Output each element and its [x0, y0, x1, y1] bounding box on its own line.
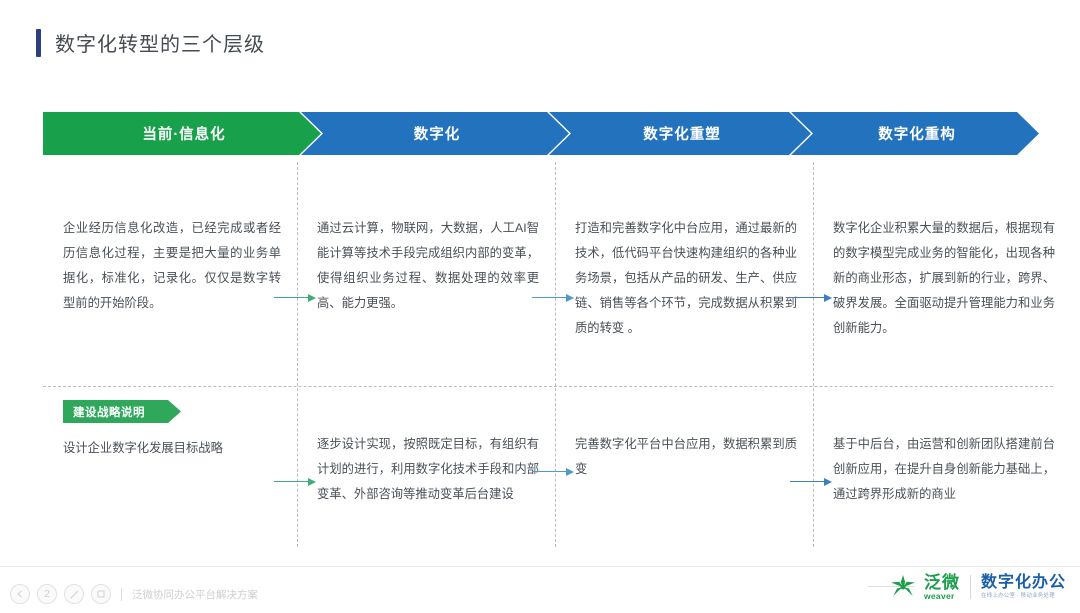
page-number-icon[interactable]: 2: [37, 584, 57, 604]
product-name-block: 数字化办公 在线上办公室 · 移动业务处理: [981, 575, 1066, 600]
back-arrow-icon[interactable]: [10, 584, 30, 604]
stage-strategy-2: 逐步设计实现，按照既定目标，有组织有计划的进行，利用数字化技术手段和内部变革、外…: [317, 432, 539, 507]
stage-label-3: 数字化重塑: [639, 123, 721, 144]
column-divider-3: [813, 162, 814, 547]
strategy-badge-label: 建设战略说明: [63, 404, 145, 420]
stage-strategy-3: 完善数字化平台中台应用，数据积累到质变: [575, 432, 797, 482]
stage-description-2: 通过云计算，物联网，大数据，人工AI智能计算等技术手段完成组织内部的变革，使得组…: [317, 216, 539, 316]
stage-label-2: 数字化: [410, 123, 461, 144]
stage-strategy-4: 基于中后台，由运营和创新团队搭建前台创新应用，在提升自身创新能力基础上，通过跨界…: [833, 432, 1055, 507]
stage-column-2: 通过云计算，物联网，大数据，人工AI智能计算等技术手段完成组织内部的变革，使得组…: [301, 162, 553, 547]
stage-strategy-1: 设计企业数字化发展目标战略: [63, 436, 281, 461]
brand-name-block: 泛微 weaver: [924, 574, 960, 601]
stage-content-grid: 企业经历信息化改造，已经完成或者经历信息化过程，主要是把大量的业务单据化，标准化…: [43, 162, 1053, 547]
page-title-text: 数字化转型的三个层级: [55, 28, 265, 57]
product-name-cn: 数字化办公: [981, 575, 1066, 591]
title-accent-bar: [36, 29, 41, 57]
stage-chevron-1[interactable]: 当前·信息化: [43, 112, 321, 155]
stage-column-3: 打造和完善数字化中台应用，通过最新的技术，低代码平台快速构建组织的各种业务场景，…: [559, 162, 811, 547]
footer-toolbar: 2 泛微协同办公平台解决方案: [10, 584, 258, 604]
product-name-sub: 在线上办公室 · 移动业务处理: [981, 594, 1066, 600]
stage-chevron-3[interactable]: 数字化重塑: [549, 112, 811, 155]
stage-description-4: 数字化企业积累大量的数据后，根据现有的数字模型完成业务的智能化，出现各种新的商业…: [833, 216, 1055, 341]
brand-name-cn: 泛微: [924, 574, 960, 591]
frame-icon[interactable]: [91, 584, 111, 604]
footer-caption: 泛微协同办公平台解决方案: [132, 587, 258, 602]
stage-chevron-4[interactable]: 数字化重构: [791, 112, 1039, 155]
strategy-badge: 建设战略说明: [63, 400, 181, 423]
footer-page-number: 2: [44, 589, 50, 600]
stage-chevron-band: 当前·信息化 数字化 数字化重塑 数字化重构: [43, 112, 1053, 155]
flow-arrow-icon-bottom-2: [532, 467, 576, 477]
stage-description-1: 企业经历信息化改造，已经完成或者经历信息化过程，主要是把大量的业务单据化，标准化…: [63, 216, 281, 316]
page-title: 数字化转型的三个层级: [36, 28, 265, 57]
footer-divider: [0, 566, 1080, 567]
stage-label-4: 数字化重构: [874, 123, 956, 144]
stage-description-3: 打造和完善数字化中台应用，通过最新的技术，低代码平台快速构建组织的各种业务场景，…: [575, 216, 797, 341]
column-divider-2: [555, 162, 556, 547]
flow-arrow-icon-bottom-1: [274, 477, 318, 487]
stage-chevron-2[interactable]: 数字化: [301, 112, 569, 155]
weaver-leaf-icon: [888, 572, 918, 602]
column-divider-1: [297, 162, 298, 547]
logo-divider: [970, 575, 971, 599]
brand-logo: 泛微 weaver 数字化办公 在线上办公室 · 移动业务处理: [888, 572, 1066, 602]
flow-arrow-icon-bottom-3: [790, 477, 834, 487]
stage-column-4: 数字化企业积累大量的数据后，根据现有的数字模型完成业务的智能化，出现各种新的商业…: [817, 162, 1069, 547]
flow-arrow-icon-top-3: [790, 293, 834, 303]
stage-column-1: 企业经历信息化改造，已经完成或者经历信息化过程，主要是把大量的业务单据化，标准化…: [43, 162, 295, 547]
flow-arrow-icon-top-2: [532, 293, 576, 303]
brand-name-en: weaver: [924, 592, 960, 601]
footer-separator: [121, 588, 122, 601]
flow-arrow-icon-top-1: [274, 293, 318, 303]
stage-label-1: 当前·信息化: [138, 123, 225, 144]
pen-icon[interactable]: [64, 584, 84, 604]
